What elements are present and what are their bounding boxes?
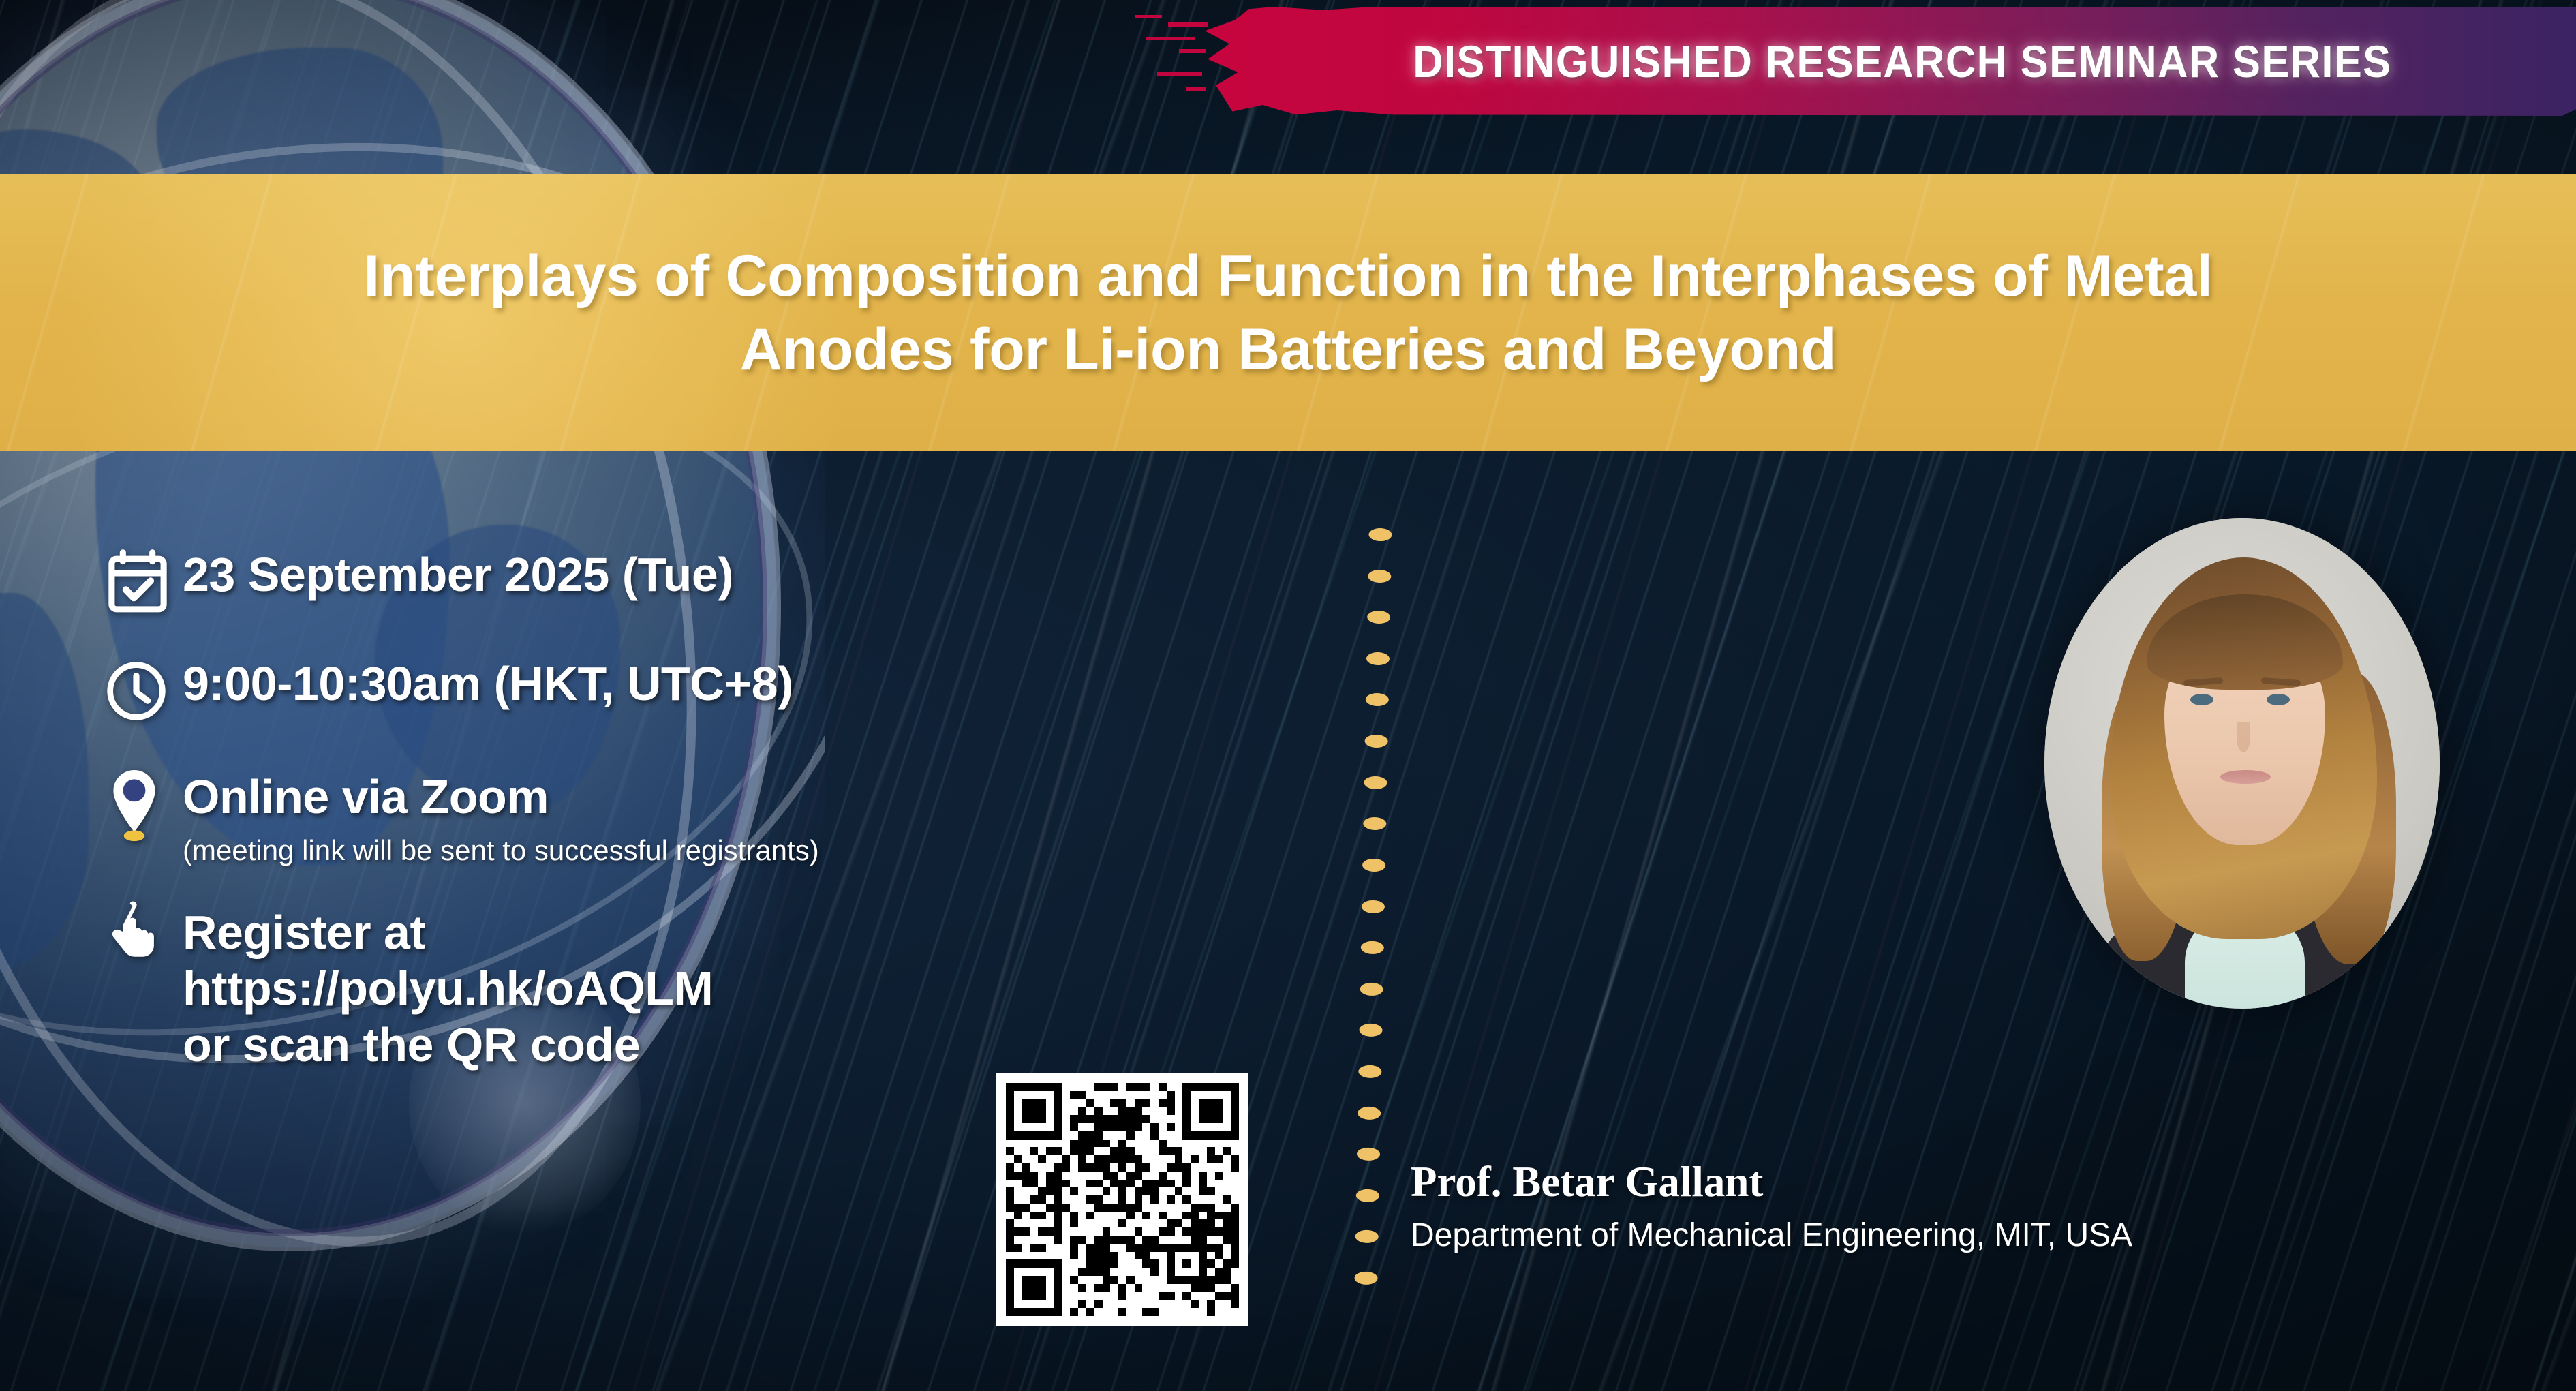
register-url[interactable]: https://polyu.hk/oAQLM bbox=[183, 960, 713, 1017]
detail-text-date: 23 September 2025 (Tue) bbox=[183, 545, 733, 600]
divider-dot bbox=[1362, 859, 1385, 872]
detail-row-registration[interactable]: Register at https://polyu.hk/oAQLM or sc… bbox=[102, 900, 1274, 1073]
divider-dot bbox=[1364, 735, 1387, 748]
divider-dot bbox=[1367, 611, 1390, 624]
title-band: Interplays of Composition and Function i… bbox=[0, 174, 2576, 451]
brush-fragment bbox=[1146, 37, 1195, 40]
divider-dot bbox=[1357, 1148, 1380, 1161]
qr-code-matrix bbox=[1006, 1083, 1239, 1316]
series-banner-label: DISTINGUISHED RESEARCH SEMINAR SERIES bbox=[1248, 7, 2528, 116]
divider-dot bbox=[1361, 941, 1384, 955]
divider-dot bbox=[1358, 1065, 1381, 1079]
divider-dot bbox=[1355, 1230, 1379, 1244]
divider-dot bbox=[1363, 817, 1386, 831]
divider-dot bbox=[1368, 528, 1392, 542]
event-details: 23 September 2025 (Tue) 9:00-10:30am (HK… bbox=[102, 545, 1274, 1103]
divider-dot bbox=[1368, 569, 1391, 583]
divider-dot bbox=[1359, 1024, 1382, 1037]
detail-row-venue: Online via Zoom (meeting link will be se… bbox=[102, 767, 1274, 869]
avatar-nose bbox=[2237, 722, 2250, 752]
qr-code[interactable] bbox=[996, 1073, 1248, 1326]
location-pin-icon bbox=[102, 767, 183, 838]
calendar-check-icon bbox=[102, 545, 183, 616]
speaker-info: Prof. Betar Gallant Department of Mechan… bbox=[1411, 1159, 2132, 1254]
avatar-eye-right bbox=[2267, 694, 2290, 705]
detail-text-time: 9:00-10:30am (HKT, UTC+8) bbox=[183, 654, 793, 709]
clock-icon bbox=[102, 654, 183, 725]
divider-dot bbox=[1366, 693, 1389, 707]
avatar-mouth bbox=[2220, 770, 2271, 784]
seminar-title-line-1: Interplays of Composition and Function i… bbox=[363, 239, 2212, 313]
detail-row-time: 9:00-10:30am (HKT, UTC+8) bbox=[102, 654, 1274, 725]
pointing-hand-icon bbox=[102, 900, 183, 971]
speaker-name: Prof. Betar Gallant bbox=[1411, 1159, 2132, 1206]
register-label: Register at bbox=[183, 904, 713, 961]
brush-fragment bbox=[1157, 72, 1202, 76]
divider-dot bbox=[1360, 982, 1383, 996]
avatar-eye-left bbox=[2190, 694, 2213, 705]
event-venue: Online via Zoom bbox=[183, 771, 819, 822]
brush-fragment bbox=[1186, 87, 1206, 91]
detail-text-registration: Register at https://polyu.hk/oAQLM or sc… bbox=[183, 900, 713, 1073]
seminar-title: Interplays of Composition and Function i… bbox=[0, 174, 2576, 451]
register-qr-hint: or scan the QR code bbox=[183, 1017, 713, 1073]
seminar-poster: DISTINGUISHED RESEARCH SEMINAR SERIES In… bbox=[0, 0, 2576, 1391]
divider-dot bbox=[1356, 1189, 1379, 1202]
speaker-affiliation: Department of Mechanical Engineering, MI… bbox=[1411, 1217, 2132, 1254]
seminar-title-line-2: Anodes for Li-ion Batteries and Beyond bbox=[740, 313, 1836, 386]
divider-dot bbox=[1358, 1106, 1381, 1120]
series-banner: DISTINGUISHED RESEARCH SEMINAR SERIES bbox=[1199, 7, 2576, 116]
event-date: 23 September 2025 (Tue) bbox=[183, 549, 733, 600]
detail-row-date: 23 September 2025 (Tue) bbox=[102, 545, 1274, 616]
avatar bbox=[2044, 518, 2440, 1009]
event-venue-note: (meeting link will be sent to successful… bbox=[183, 833, 819, 869]
brush-fragment bbox=[1135, 15, 1162, 18]
divider-dot bbox=[1354, 1272, 1377, 1285]
brush-fragment bbox=[1179, 49, 1206, 53]
divider-dot bbox=[1364, 776, 1387, 789]
brush-fragment bbox=[1168, 22, 1208, 27]
detail-text-venue: Online via Zoom (meeting link will be se… bbox=[183, 767, 819, 869]
divider-dot bbox=[1366, 652, 1390, 666]
divider-dot bbox=[1362, 900, 1385, 913]
event-time: 9:00-10:30am (HKT, UTC+8) bbox=[183, 658, 793, 709]
